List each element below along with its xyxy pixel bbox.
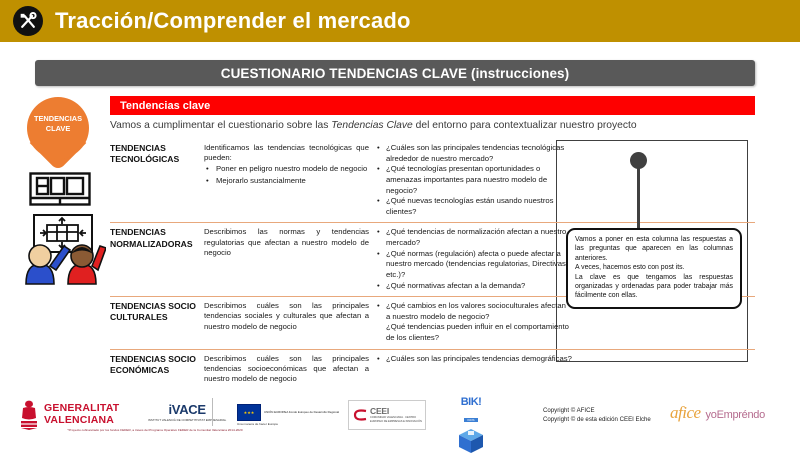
- callout-paragraph-3: La clave es que tengamos las respuestas …: [575, 273, 733, 301]
- list-item: ¿Qué normas (regulación) afecta o puede …: [377, 249, 572, 281]
- list-item: ¿Qué tendencias de normalización afectan…: [377, 227, 572, 248]
- ivace-subtext: INSTITUT VALENCIÀ DE COMPETITIVITAT EMPR…: [148, 418, 226, 422]
- row-description-intro: Identificamos las tendencias tecnológica…: [204, 143, 369, 163]
- intro-suffix: del entorno para contextualizar nuestro …: [413, 120, 637, 131]
- generalitat-valenciana-logo: GENERALITAT VALENCIANA: [18, 400, 119, 430]
- ceei-subtext: COMUNIDAD VALENCIANA · CENTRO EUROPEO DE…: [370, 416, 425, 424]
- questions-list: ¿Qué tendencias de normalización afectan…: [377, 227, 572, 291]
- page-title: Tracción/Comprender el mercado: [55, 8, 411, 34]
- row-description-intro: Describimos cuáles son las principales t…: [204, 301, 369, 332]
- ivace-logo: iVACE INSTITUT VALENCIÀ DE COMPETITIVITA…: [148, 402, 226, 422]
- eu-text: UNIÓN EUROPEA Fondo Europeo de Desarroll…: [264, 410, 339, 414]
- questions-list: ¿Cuáles son las principales tendencias d…: [377, 354, 572, 365]
- ceei-wordmark: CEEI: [370, 406, 425, 416]
- row-description: Identificamos las tendencias tecnológica…: [204, 143, 377, 217]
- copyright-line-1: Copyright © AFICE: [543, 406, 651, 415]
- row-description-bullets: Poner en peligro nuestro modelo de negoc…: [204, 164, 369, 185]
- gva-text: GENERALITAT VALENCIANA: [44, 403, 119, 426]
- row-label: TENDENCIAS SOCIO ECONÓMICAS: [110, 354, 204, 385]
- row-description: Describimos cuáles son las principales t…: [204, 301, 377, 344]
- questions-list: ¿Cuáles son las principales tendencias t…: [377, 143, 572, 217]
- building-grid-icon: [29, 172, 91, 211]
- ceei-logo: CEEI COMUNIDAD VALENCIANA · CENTRO EUROP…: [348, 400, 426, 430]
- row-description-intro: Describimos cuáles son las principales t…: [204, 354, 369, 385]
- copyright-block: Copyright © AFICE Copyright © de esta ed…: [543, 406, 651, 424]
- gva-crest-icon: [18, 400, 40, 430]
- eu-stars-icon: ★★★: [238, 405, 260, 420]
- afice-yoemprendo-logo: afice yoEmpréndo: [670, 403, 765, 423]
- table-row: TENDENCIAS TECNOLÓGICAS Identificamos la…: [110, 140, 755, 222]
- callout-paragraph-1: Vamos a poner en esta columna las respue…: [575, 235, 733, 263]
- bik-wordmark: BIK!: [450, 396, 492, 408]
- questionnaire-title-text: CUESTIONARIO TENDENCIAS CLAVE (instrucci…: [221, 66, 570, 81]
- list-item: Poner en peligro nuestro modelo de negoc…: [214, 164, 369, 174]
- row-questions: ¿Qué tendencias de normalización afectan…: [377, 227, 578, 291]
- row-label: TENDENCIAS TECNOLÓGICAS: [110, 143, 204, 217]
- ivace-wordmark: iVACE: [148, 402, 226, 417]
- bik-cube-icon: [458, 428, 484, 454]
- list-item: ¿Cuáles son las principales tendencias t…: [377, 143, 572, 164]
- slide-header: Tracción/Comprender el mercado: [0, 0, 800, 42]
- section-red-bar-label: Tendencias clave: [110, 100, 210, 112]
- list-item: ¿Qué tendencias pueden influir en el com…: [377, 322, 572, 343]
- callout-pin-stem: [637, 166, 640, 230]
- questions-list: ¿Qué cambios en los valores sociocultura…: [377, 301, 572, 344]
- row-label: TENDENCIAS NORMALIZADORAS: [110, 227, 204, 291]
- table-row: TENDENCIAS SOCIO ECONÓMICAS Describimos …: [110, 349, 755, 388]
- yoemprendo-wordmark: yoEmpréndo: [706, 409, 765, 421]
- callout-paragraph-2: A veces, hacemos esto con post its.: [575, 263, 733, 272]
- intro-prefix: Vamos a cumplimentar el cuestionario sob…: [110, 120, 331, 131]
- list-item: ¿Cuáles son las principales tendencias d…: [377, 354, 572, 365]
- intro-italic: Tendencias Clave: [331, 120, 412, 131]
- row-questions: ¿Cuáles son las principales tendencias t…: [377, 143, 578, 217]
- slide-footer: GENERALITAT VALENCIANA *Proyecto cofinan…: [0, 392, 800, 450]
- row-description: Describimos las normas y tendencias regu…: [204, 227, 377, 291]
- list-item: Mejorarlo sustancialmente: [214, 176, 369, 186]
- list-item: ¿Qué tecnologías presentan oportunidades…: [377, 164, 572, 196]
- tendencias-clave-badge: TENDENCIAS CLAVE: [27, 97, 89, 175]
- callout-note: Vamos a poner en esta columna las respue…: [566, 228, 742, 309]
- list-item: ¿Qué normativas afectan a la demanda?: [377, 281, 572, 292]
- list-item: ¿Qué nuevas tecnologías están usando nue…: [377, 196, 572, 217]
- section-red-bar: Tendencias clave: [110, 96, 755, 115]
- row-description-intro: Describimos las normas y tendencias regu…: [204, 227, 369, 258]
- tools-icon: [13, 6, 43, 36]
- afice-wordmark: afice: [670, 403, 701, 423]
- gva-line2: VALENCIANA: [44, 415, 119, 427]
- funding-note: *Proyecto cofinanciado por los fondos FE…: [40, 428, 270, 432]
- copyright-line-2: Copyright © de esta edición CEEI Elche: [543, 415, 651, 424]
- row-questions: ¿Cuáles son las principales tendencias d…: [377, 354, 578, 385]
- row-questions: ¿Qué cambios en los valores sociocultura…: [377, 301, 578, 344]
- european-union-logo: ★★★ UNIÓN EUROPEA Fondo Europeo de Desar…: [237, 404, 339, 421]
- list-item: ¿Qué cambios en los valores sociocultura…: [377, 301, 572, 322]
- ceei-mark-icon: [352, 408, 368, 422]
- bik-logo: BIK! KIDS: [450, 396, 492, 454]
- slide: Tracción/Comprender el mercado CUESTIONA…: [0, 0, 800, 450]
- bik-subtext: KIDS: [464, 418, 477, 422]
- pin-label-line1: TENDENCIAS: [27, 114, 89, 124]
- questionnaire-title-bar: CUESTIONARIO TENDENCIAS CLAVE (instrucci…: [35, 60, 755, 86]
- row-answer-area[interactable]: [578, 143, 755, 217]
- eu-flag-icon: ★★★: [237, 404, 261, 421]
- row-label: TENDENCIAS SOCIO CULTURALES: [110, 301, 204, 344]
- pin-label-line2: CLAVE: [27, 124, 89, 134]
- eu-caption: Una manera de hacer Europa: [237, 422, 278, 426]
- section-intro: Vamos a cumplimentar el cuestionario sob…: [110, 119, 755, 132]
- row-answer-area[interactable]: [578, 354, 755, 385]
- team-whiteboard-icon: [20, 212, 106, 291]
- ceei-text: CEEI COMUNIDAD VALENCIANA · CENTRO EUROP…: [370, 406, 425, 424]
- pin-label: TENDENCIAS CLAVE: [27, 114, 89, 134]
- footer-divider: [212, 398, 213, 426]
- row-description: Describimos cuáles son las principales t…: [204, 354, 377, 385]
